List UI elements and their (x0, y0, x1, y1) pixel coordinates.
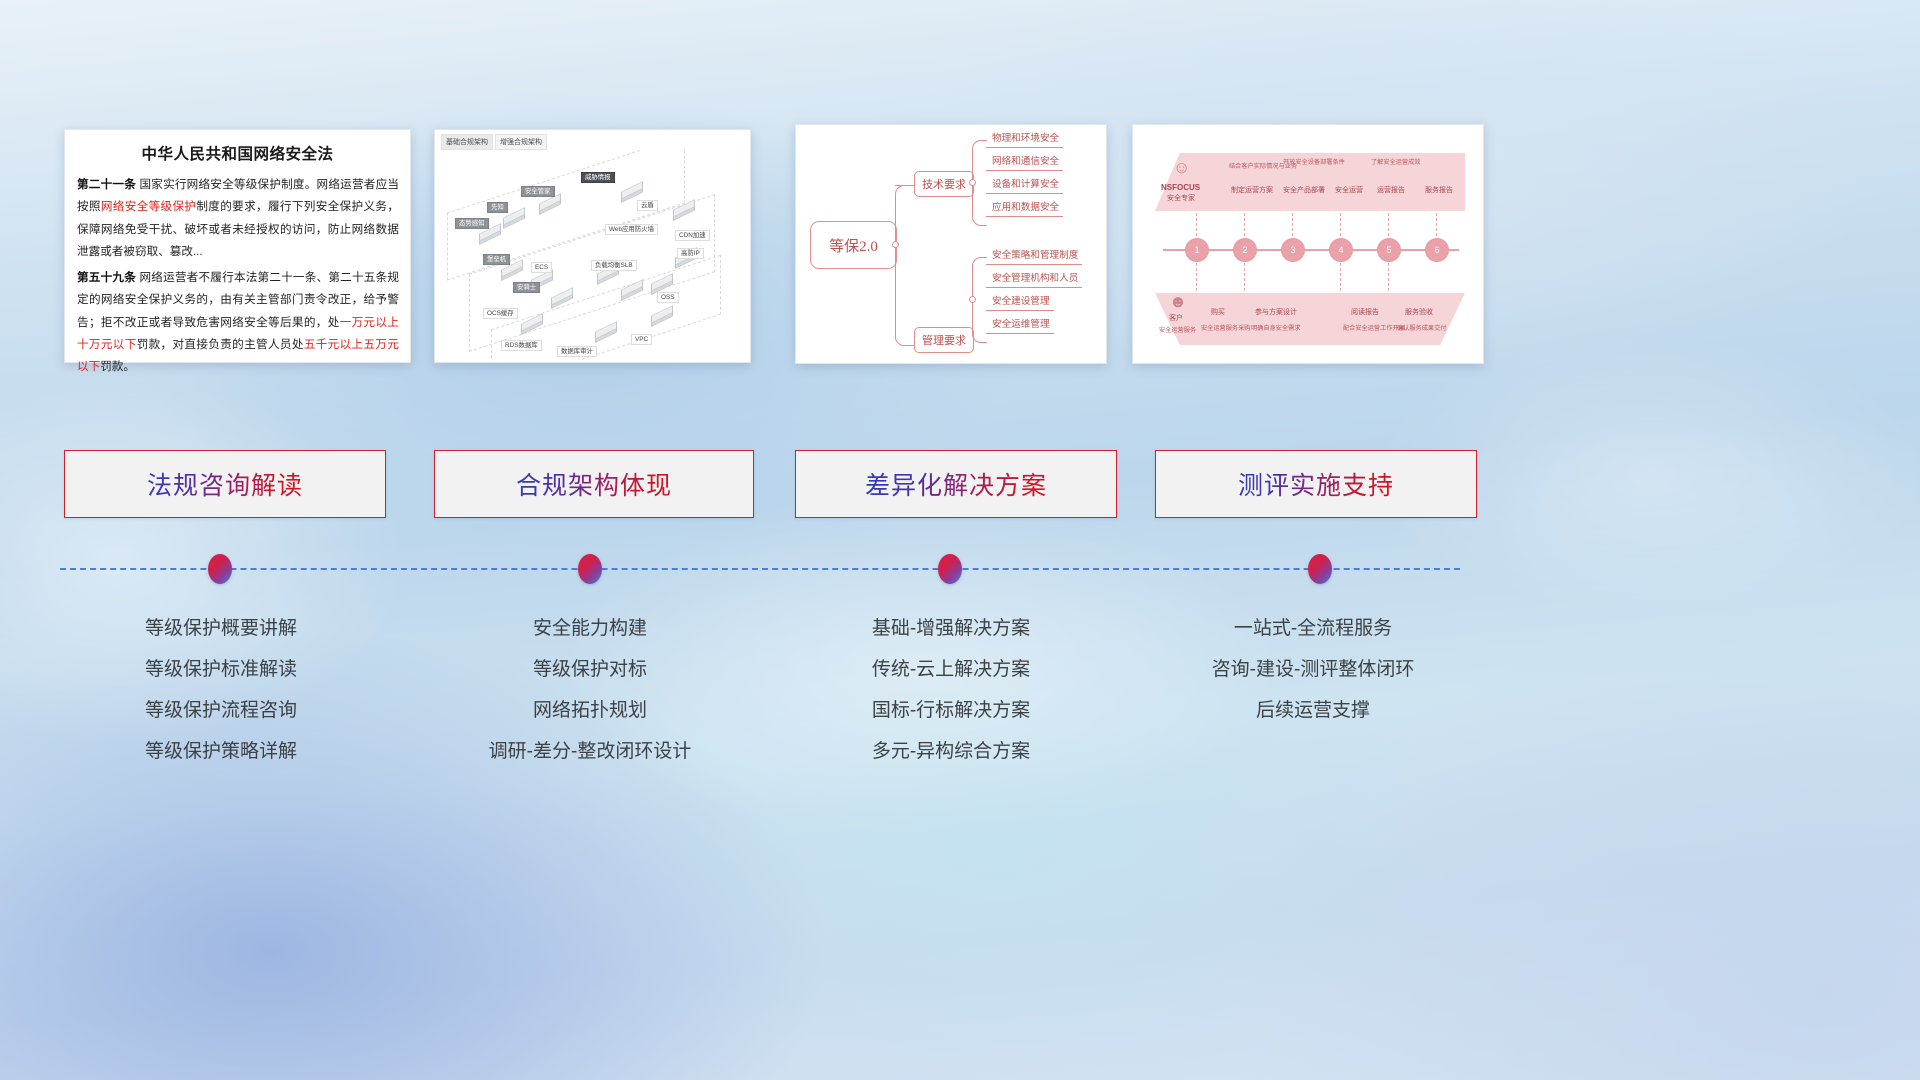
pillar-label-text: 差异化解决方案 (865, 466, 1047, 502)
list-item: 等级保护标准解读 (56, 649, 386, 690)
pillar-items-assessment-support: 一站式-全流程服务 咨询-建设-测评整体闭环 后续运营支撑 (1148, 608, 1478, 731)
list-item: 等级保护对标 (425, 649, 755, 690)
list-item: 等级保护策略详解 (56, 731, 386, 772)
list-item: 传统-云上解决方案 (786, 649, 1116, 690)
timeline-node-2 (578, 554, 602, 584)
list-item: 等级保护流程咨询 (56, 690, 386, 731)
list-item: 基础-增强解决方案 (786, 608, 1116, 649)
pillar-label-regulatory-consulting[interactable]: 法规咨询解读 (64, 450, 386, 518)
list-item: 网络拓扑规划 (425, 690, 755, 731)
list-item: 后续运营支撑 (1148, 690, 1478, 731)
pillar-label-compliance-architecture[interactable]: 合规架构体现 (434, 450, 754, 518)
list-item: 咨询-建设-测评整体闭环 (1148, 649, 1478, 690)
list-item: 多元-异构综合方案 (786, 731, 1116, 772)
pillar-label-text: 法规咨询解读 (147, 466, 303, 502)
list-item: 国标-行标解决方案 (786, 690, 1116, 731)
pillar-items-compliance-architecture: 安全能力构建 等级保护对标 网络拓扑规划 调研-差分-整改闭环设计 (425, 608, 755, 772)
pillar-label-differentiated-solution[interactable]: 差异化解决方案 (795, 450, 1117, 518)
pillar-label-text: 测评实施支持 (1238, 466, 1394, 502)
list-item: 等级保护概要讲解 (56, 608, 386, 649)
pillar-labels: 法规咨询解读 合规架构体现 差异化解决方案 测评实施支持 等级保护概要讲解 等级… (0, 0, 1920, 1080)
pillar-label-assessment-support[interactable]: 测评实施支持 (1155, 450, 1477, 518)
list-item: 一站式-全流程服务 (1148, 608, 1478, 649)
pillar-items-regulatory-consulting: 等级保护概要讲解 等级保护标准解读 等级保护流程咨询 等级保护策略详解 (56, 608, 386, 772)
timeline-node-3 (938, 554, 962, 584)
timeline-node-4 (1308, 554, 1332, 584)
dashed-timeline (60, 568, 1460, 572)
list-item: 安全能力构建 (425, 608, 755, 649)
pillar-label-text: 合规架构体现 (516, 466, 672, 502)
timeline-node-1 (208, 554, 232, 584)
list-item: 调研-差分-整改闭环设计 (425, 731, 755, 772)
pillar-items-differentiated-solution: 基础-增强解决方案 传统-云上解决方案 国标-行标解决方案 多元-异构综合方案 (786, 608, 1116, 772)
